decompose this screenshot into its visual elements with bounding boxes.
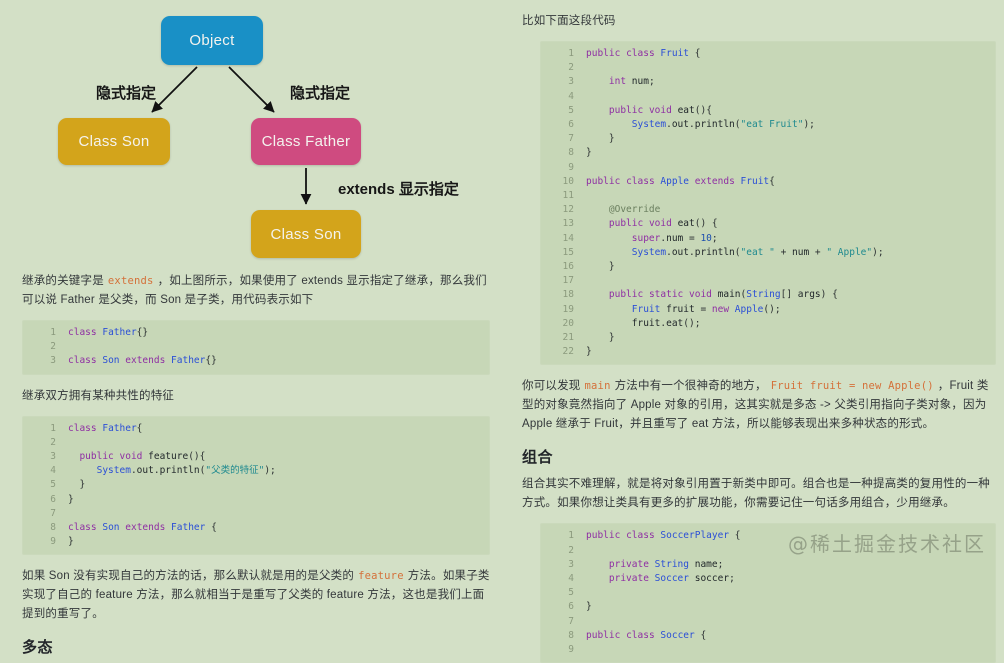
- code-line-number: 16: [540, 260, 586, 274]
- code-line: 3 private String name;: [540, 558, 996, 572]
- code-block-right-2[interactable]: 1public class SoccerPlayer {23 private S…: [540, 523, 996, 663]
- code-line-text: public void feature(){: [68, 450, 205, 464]
- code-line-text: class Son extends Father {: [68, 521, 217, 535]
- code-line-text: System.out.println("eat Fruit");: [586, 118, 815, 132]
- heading-composition: 组合: [522, 446, 996, 467]
- diagram-node-son-left: Class Son: [58, 118, 170, 165]
- code-line-number: 10: [540, 175, 586, 189]
- code-line-number: 7: [22, 507, 68, 521]
- code-line-text: private Soccer soccer;: [586, 572, 735, 586]
- left-column: Object Class Son Class Father Class Son …: [0, 0, 512, 569]
- code-line-text: Fruit fruit = new Apple();: [586, 303, 781, 317]
- code-line-text: }: [68, 535, 74, 549]
- code-line-number: 6: [540, 600, 586, 614]
- code-line-text: public class Fruit {: [586, 47, 700, 61]
- code-line: 7 }: [540, 132, 996, 146]
- code-line-number: 4: [22, 464, 68, 478]
- code-line: 4 private Soccer soccer;: [540, 572, 996, 586]
- code-line: 9: [540, 643, 996, 657]
- code-line-number: 3: [22, 354, 68, 368]
- code-line-number: 22: [540, 345, 586, 359]
- code-line: 2: [540, 544, 996, 558]
- code-block-left-2[interactable]: 1class Father{23 public void feature(){4…: [22, 416, 490, 556]
- code-line-text: fruit.eat();: [586, 317, 700, 331]
- code-line-text: class Father{: [68, 422, 142, 436]
- right-paragraph-2-before: 你可以发现: [522, 380, 581, 392]
- code-line-number: 12: [540, 203, 586, 217]
- code-line-number: 17: [540, 274, 586, 288]
- code-line: 19 Fruit fruit = new Apple();: [540, 303, 996, 317]
- left-paragraph-1: 继承的关键字是extends，如上图所示，如果使用了 extends 显示指定了…: [22, 272, 490, 310]
- inline-code-fruit-new-apple: Fruit fruit = new Apple(): [767, 380, 938, 392]
- code-line-number: 5: [540, 586, 586, 600]
- article-page: Object Class Son Class Father Class Son …: [0, 0, 1004, 569]
- code-line-text: public class Soccer {: [586, 629, 706, 643]
- code-line-number: 5: [22, 478, 68, 492]
- code-line: 6}: [540, 600, 996, 614]
- diagram-label-extends: extends 显示指定: [338, 178, 459, 199]
- code-line: 20 fruit.eat();: [540, 317, 996, 331]
- right-paragraph-2: 你可以发现main方法中有一个很神奇的地方，Fruit fruit = new …: [522, 377, 996, 434]
- code-line-number: 5: [540, 104, 586, 118]
- code-line: 2: [22, 436, 490, 450]
- code-line-number: 1: [22, 326, 68, 340]
- code-line: 3 int num;: [540, 75, 996, 89]
- code-line-number: 9: [540, 643, 586, 657]
- code-line: 3class Son extends Father{}: [22, 354, 490, 368]
- code-line-number: 7: [540, 615, 586, 629]
- diagram-node-father-label: Class Father: [262, 133, 351, 150]
- code-line: 22}: [540, 345, 996, 359]
- code-line-text: public void eat() {: [586, 217, 718, 231]
- code-line-text: }: [586, 600, 592, 614]
- code-line-text: class Father{}: [68, 326, 148, 340]
- code-line-number: 3: [22, 450, 68, 464]
- code-line-number: 11: [540, 189, 586, 203]
- code-line: 8public class Soccer {: [540, 629, 996, 643]
- code-line-text: }: [68, 493, 74, 507]
- code-line: 9: [540, 161, 996, 175]
- diagram-node-object: Object: [161, 16, 263, 65]
- code-line: 2: [540, 61, 996, 75]
- heading-polymorphism: 多态: [22, 636, 490, 657]
- right-paragraph-1: 比如下面这段代码: [522, 12, 996, 31]
- code-line-text: private String name;: [586, 558, 723, 572]
- code-line: 15 System.out.println("eat " + num + " A…: [540, 246, 996, 260]
- code-line: 12 @Override: [540, 203, 996, 217]
- inline-code-feature: feature: [354, 570, 408, 582]
- code-line-text: super.num = 10;: [586, 232, 718, 246]
- code-line-text: public void eat(){: [586, 104, 712, 118]
- code-line-number: 19: [540, 303, 586, 317]
- code-line-text: }: [586, 331, 615, 345]
- arrow-object-to-father: [229, 67, 274, 112]
- code-line: 11: [540, 189, 996, 203]
- code-line-number: 8: [22, 521, 68, 535]
- arrow-object-to-son: [152, 67, 197, 112]
- code-line-text: public class SoccerPlayer {: [586, 529, 741, 543]
- code-line-number: 2: [22, 436, 68, 450]
- code-line: 21 }: [540, 331, 996, 345]
- code-line-number: 9: [22, 535, 68, 549]
- code-line: 5 public void eat(){: [540, 104, 996, 118]
- code-line-number: 2: [22, 340, 68, 354]
- diagram-node-son-left-label: Class Son: [78, 133, 149, 150]
- inheritance-diagram: Object Class Son Class Father Class Son …: [22, 0, 490, 272]
- code-line-number: 4: [540, 572, 586, 586]
- code-line: 4: [540, 90, 996, 104]
- left-paragraph-3: 如果 Son 没有实现自己的方法的话，那么默认就是用的是父类的feature方法…: [22, 567, 490, 624]
- right-paragraph-3: 组合其实不难理解，就是将对象引用置于新类中即可。组合也是一种提高类的复用性的一种…: [522, 475, 996, 513]
- code-line-text: System.out.println("eat " + num + " Appl…: [586, 246, 884, 260]
- code-line-number: 8: [540, 146, 586, 160]
- code-line-number: 21: [540, 331, 586, 345]
- code-line-text: public static void main(String[] args) {: [586, 288, 838, 302]
- code-line: 1class Father{: [22, 422, 490, 436]
- code-line-number: 6: [540, 118, 586, 132]
- diagram-node-son-right-label: Class Son: [270, 226, 341, 243]
- code-line-number: 1: [540, 47, 586, 61]
- code-line: 7: [22, 507, 490, 521]
- code-block-right-1[interactable]: 1public class Fruit {23 int num;45 publi…: [540, 41, 996, 365]
- code-line: 5 }: [22, 478, 490, 492]
- code-line: 1public class SoccerPlayer {: [540, 529, 996, 543]
- code-line-number: 2: [540, 61, 586, 75]
- code-line: 1class Father{}: [22, 326, 490, 340]
- code-line: 1public class Fruit {: [540, 47, 996, 61]
- code-line-number: 6: [22, 493, 68, 507]
- code-line: 7: [540, 615, 996, 629]
- diagram-label-implicit-left: 隐式指定: [96, 82, 156, 103]
- code-line-text: public class Apple extends Fruit{: [586, 175, 775, 189]
- code-line-number: 7: [540, 132, 586, 146]
- code-line-number: 20: [540, 317, 586, 331]
- code-line-text: }: [586, 345, 592, 359]
- code-line: 13 public void eat() {: [540, 217, 996, 231]
- code-line: 8class Son extends Father {: [22, 521, 490, 535]
- code-line: 16 }: [540, 260, 996, 274]
- code-line-number: 3: [540, 75, 586, 89]
- code-line: 4 System.out.println("父类的特征");: [22, 464, 490, 478]
- code-line-text: class Son extends Father{}: [68, 354, 217, 368]
- left-paragraph-1-before: 继承的关键字是: [22, 275, 104, 287]
- diagram-node-son-right: Class Son: [251, 210, 361, 258]
- code-line: 18 public static void main(String[] args…: [540, 288, 996, 302]
- code-line-number: 3: [540, 558, 586, 572]
- diagram-node-father: Class Father: [251, 118, 361, 165]
- code-line-text: }: [586, 132, 615, 146]
- code-line: 5: [540, 586, 996, 600]
- code-line-number: 9: [540, 161, 586, 175]
- code-line-number: 15: [540, 246, 586, 260]
- code-line-number: 4: [540, 90, 586, 104]
- code-line-text: }: [586, 260, 615, 274]
- diagram-node-object-label: Object: [189, 32, 234, 49]
- code-line-text: int num;: [586, 75, 655, 89]
- left-paragraph-3-before: 如果 Son 没有实现自己的方法的话，那么默认就是用的是父类的: [22, 570, 354, 582]
- right-paragraph-2-middle: 方法中有一个很神奇的地方，: [615, 380, 767, 392]
- code-line-text: }: [586, 146, 592, 160]
- code-line-number: 2: [540, 544, 586, 558]
- code-line: 3 public void feature(){: [22, 450, 490, 464]
- diagram-label-implicit-right: 隐式指定: [290, 82, 350, 103]
- code-line: 14 super.num = 10;: [540, 232, 996, 246]
- code-block-left-1[interactable]: 1class Father{}23class Son extends Fathe…: [22, 320, 490, 375]
- code-line-text: @Override: [586, 203, 660, 217]
- code-line-number: 18: [540, 288, 586, 302]
- right-column: 比如下面这段代码 1public class Fruit {23 int num…: [512, 0, 1004, 569]
- code-line-number: 14: [540, 232, 586, 246]
- code-line-number: 13: [540, 217, 586, 231]
- code-line-number: 1: [540, 529, 586, 543]
- code-line-number: 8: [540, 629, 586, 643]
- code-line-text: System.out.println("父类的特征");: [68, 464, 276, 478]
- code-line: 6 System.out.println("eat Fruit");: [540, 118, 996, 132]
- code-line: 9}: [22, 535, 490, 549]
- code-line: 6}: [22, 493, 490, 507]
- code-line: 17: [540, 274, 996, 288]
- code-line: 10public class Apple extends Fruit{: [540, 175, 996, 189]
- code-line-number: 1: [22, 422, 68, 436]
- code-line-text: }: [68, 478, 85, 492]
- inline-code-main: main: [581, 380, 615, 392]
- left-paragraph-2: 继承双方拥有某种共性的特征: [22, 387, 490, 406]
- code-line: 2: [22, 340, 490, 354]
- code-line: 8}: [540, 146, 996, 160]
- inline-code-extends: extends: [104, 275, 158, 287]
